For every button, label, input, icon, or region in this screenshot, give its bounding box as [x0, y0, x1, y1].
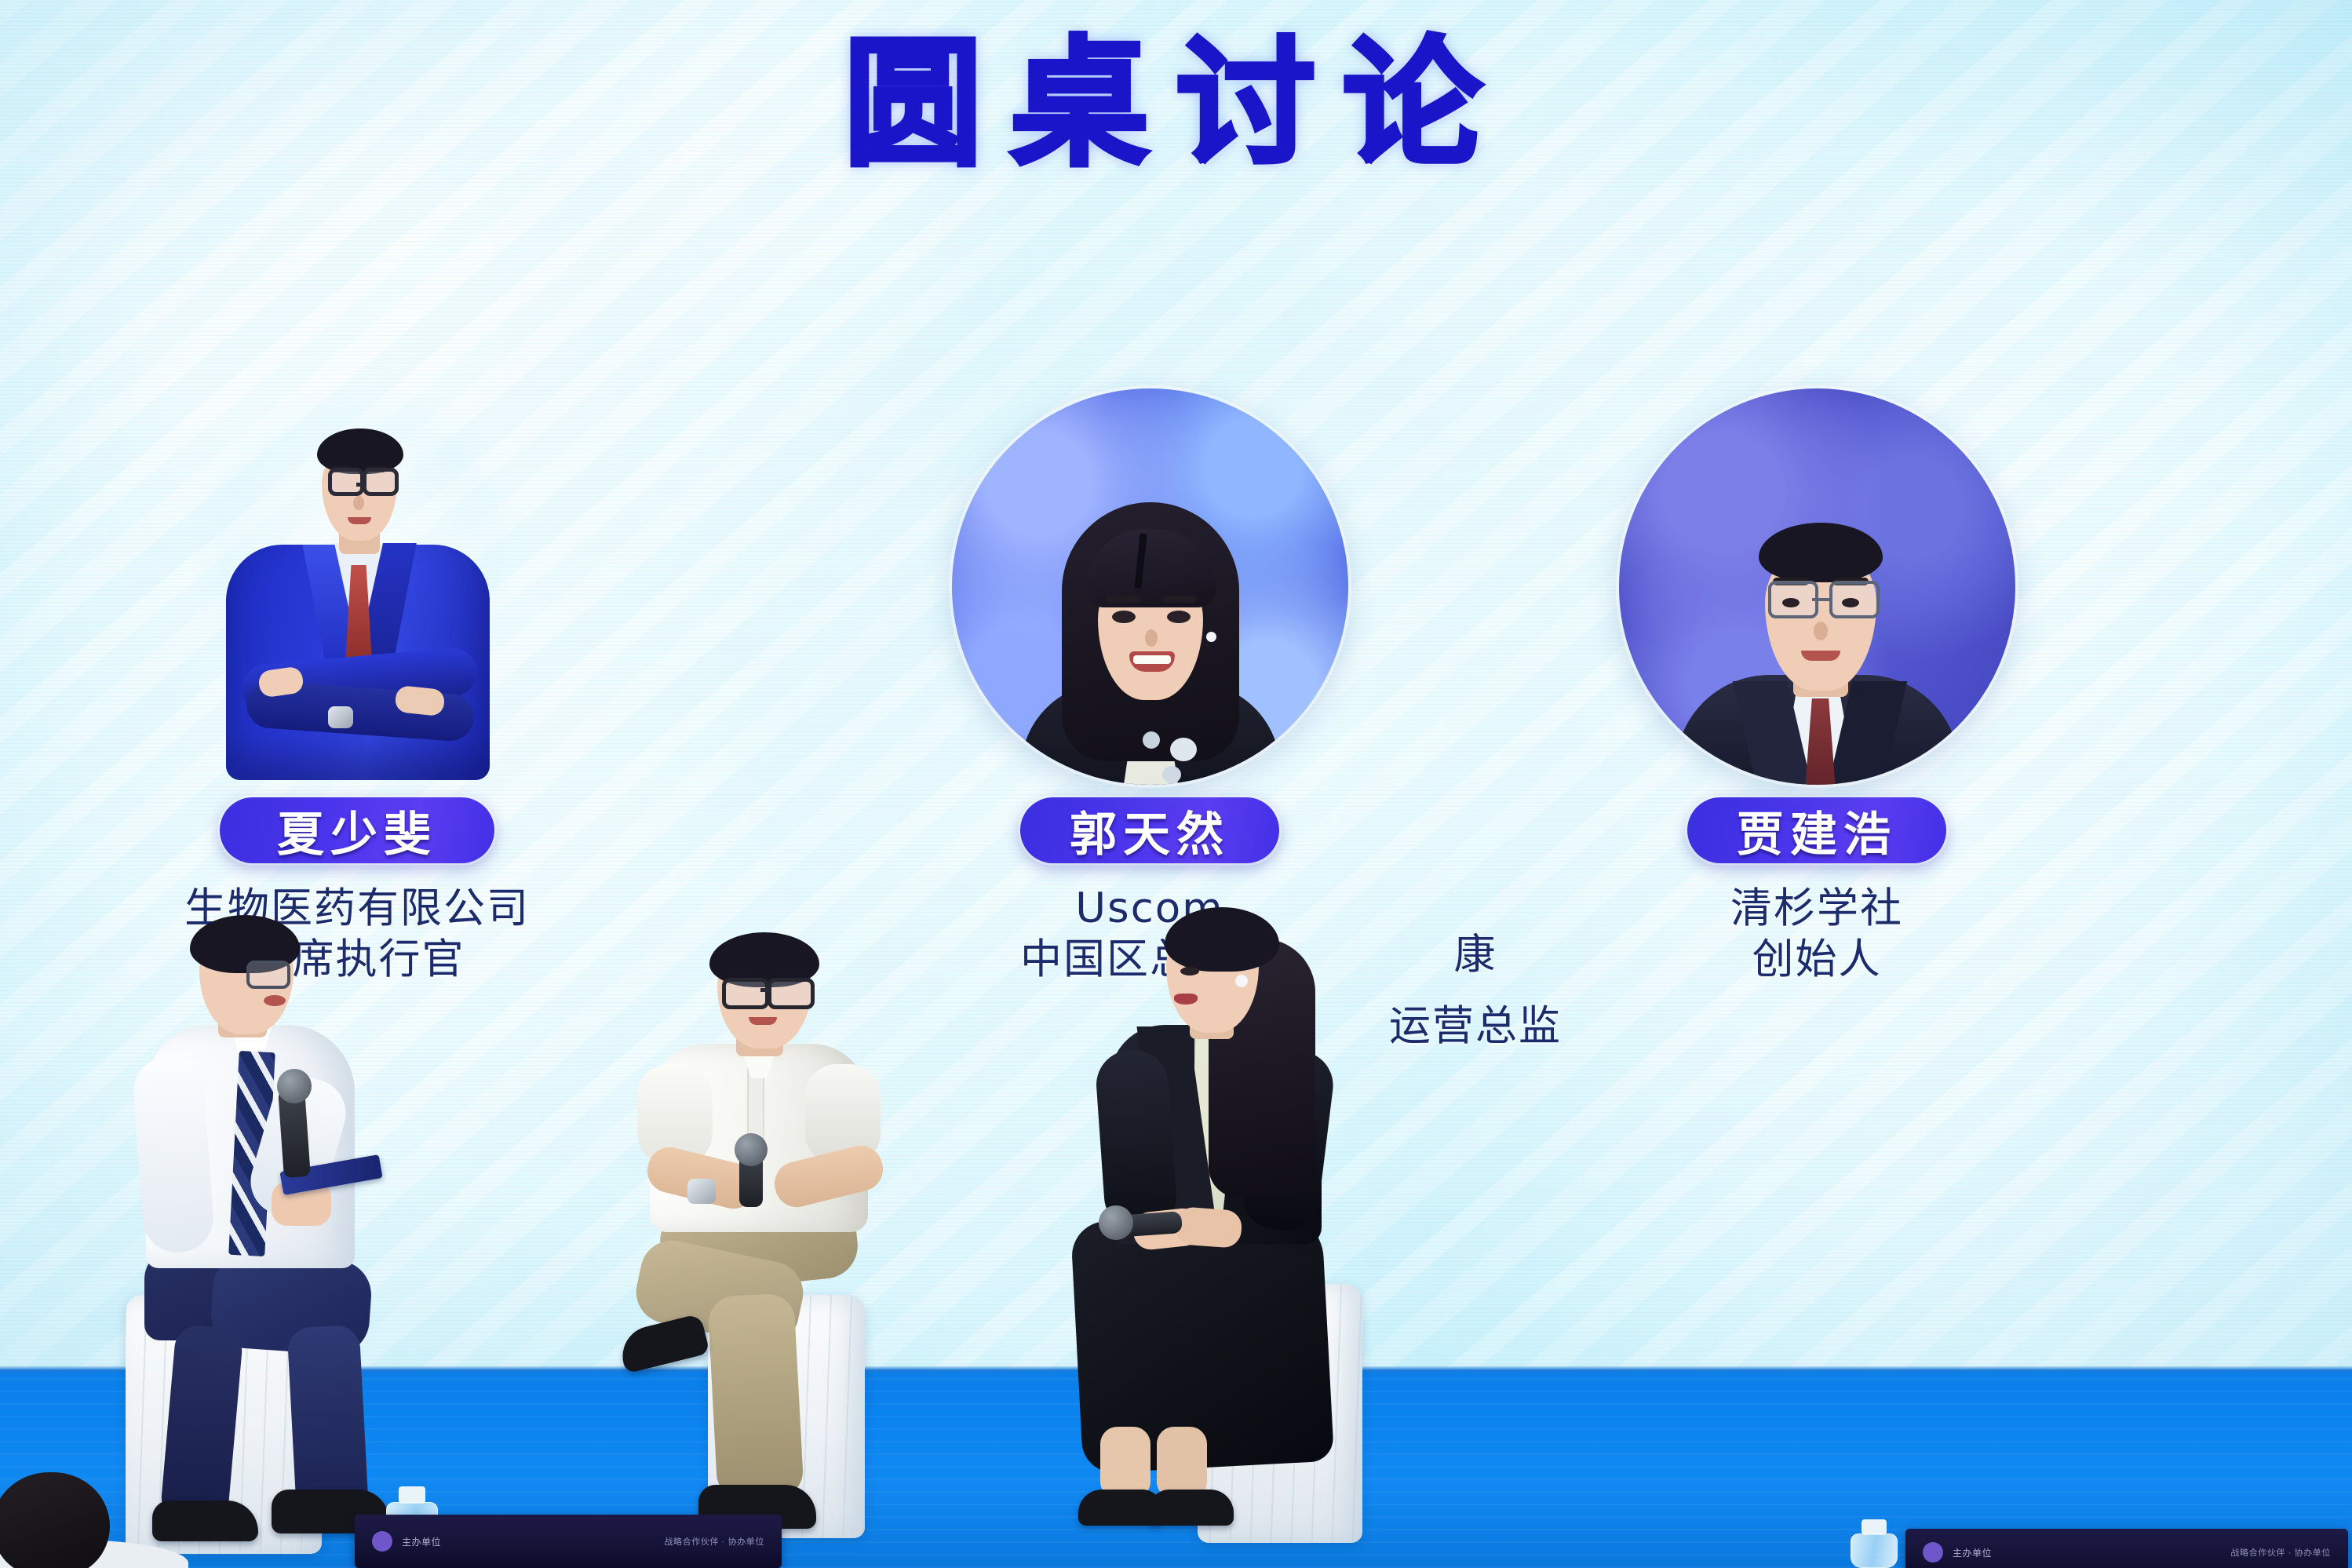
panelist-center-mouth — [1174, 994, 1198, 1005]
avatar-disc-1 — [952, 388, 1348, 785]
panelist-name-0: 夏少斐 — [277, 797, 437, 865]
panelist-role-2: 创始人 — [1542, 935, 2091, 986]
stage-nameplate-right-logos: 主办单位 — [1923, 1542, 1992, 1563]
panelist-name-badge-0: 夏少斐 — [220, 797, 494, 863]
slide-title: 圆桌讨论 — [0, 35, 2352, 174]
conference-stage-screenshot: 圆桌讨论 — [0, 0, 2352, 1568]
panelist-left-mouth — [749, 1017, 777, 1025]
moderator-shoe-left — [152, 1501, 258, 1541]
panelist-center-shoe-right — [1149, 1490, 1234, 1526]
panelist-name-badge-2: 贾建浩 — [1687, 797, 1946, 863]
moderator-mouth — [264, 995, 286, 1006]
panelist-card-0: 夏少斐 生物医药有限公司 首席执行官 — [82, 357, 632, 985]
organizer-logo-icon-2 — [1923, 1542, 1943, 1563]
avatar-disc-2 — [1619, 388, 2015, 785]
panelist-name-1: 郭天然 — [1070, 797, 1230, 865]
panelist-center-leg-left — [1100, 1427, 1150, 1499]
stage-nameplate-right-partners: 战略合作伙伴 · 协办单位 — [2230, 1546, 2331, 1559]
seated-panelist-left — [620, 926, 950, 1546]
panelist-name-2: 贾建浩 — [1737, 797, 1897, 865]
panelist-card-2: 贾建浩 清杉学社 创始人 — [1542, 357, 2091, 985]
seated-panelist-center — [1052, 903, 1405, 1538]
panelist-center-leg-right — [1157, 1427, 1207, 1499]
stage-nameplate-left: 主办单位 战略合作伙伴 · 协办单位 — [355, 1515, 782, 1568]
panelist-org-2: 清杉学社 — [1542, 884, 2091, 935]
moderator-glasses — [246, 961, 290, 989]
panelist-left-shoe-crossed — [616, 1313, 709, 1373]
panelist-center-eye — [1180, 967, 1199, 975]
panelist-left-glasses-bridge — [760, 988, 770, 992]
water-bottle-left-cap — [399, 1486, 425, 1504]
panelist-card-1: 郭天然 Uscom 中国区总经理 — [875, 357, 1424, 985]
moderator-microphone-head — [277, 1069, 312, 1103]
panelist-name-badge-1: 郭天然 — [1020, 797, 1279, 863]
water-bottle-right-cap — [1862, 1519, 1887, 1535]
avatar-figure-0 — [210, 372, 505, 780]
panelist-left-standing-shin — [707, 1293, 804, 1501]
panelist-avatar-0 — [82, 357, 632, 785]
panelist-center-earring — [1235, 975, 1248, 987]
panelist-center-hand-right — [1174, 1206, 1242, 1249]
stage-nameplate-left-partners: 战略合作伙伴 · 协办单位 — [664, 1535, 764, 1548]
panelist-center-arm-left — [1094, 1048, 1179, 1233]
stage-nameplate-right: 主办单位 战略合作伙伴 · 协办单位 — [1905, 1529, 2348, 1568]
panelist-center-hair-front — [1165, 907, 1279, 972]
panelist-center-microphone-head — [1099, 1205, 1133, 1240]
water-bottle-right — [1851, 1519, 1898, 1568]
organizer-logo-icon — [372, 1531, 392, 1552]
panelist-affiliation-2: 清杉学社 创始人 — [1542, 884, 2091, 985]
panelist-left-microphone-head — [735, 1133, 768, 1166]
panelist-avatar-1 — [875, 357, 1424, 785]
panelist-left-glasses-right — [768, 978, 815, 1009]
stage-nameplate-left-logos: 主办单位 — [372, 1531, 441, 1552]
avatar-figure-1 — [952, 388, 1348, 785]
seated-moderator — [118, 903, 447, 1530]
panelist-left-glasses-left — [722, 978, 769, 1009]
stage-nameplate-left-text: 主办单位 — [402, 1535, 441, 1548]
water-bottle-right-body — [1851, 1533, 1898, 1568]
panelist-left-watch — [687, 1179, 716, 1204]
panelist-avatar-2 — [1542, 357, 2091, 785]
moderator-arm-left — [131, 1054, 215, 1255]
stage-nameplate-right-text: 主办单位 — [1953, 1546, 1992, 1559]
avatar-figure-2 — [1619, 388, 2015, 785]
